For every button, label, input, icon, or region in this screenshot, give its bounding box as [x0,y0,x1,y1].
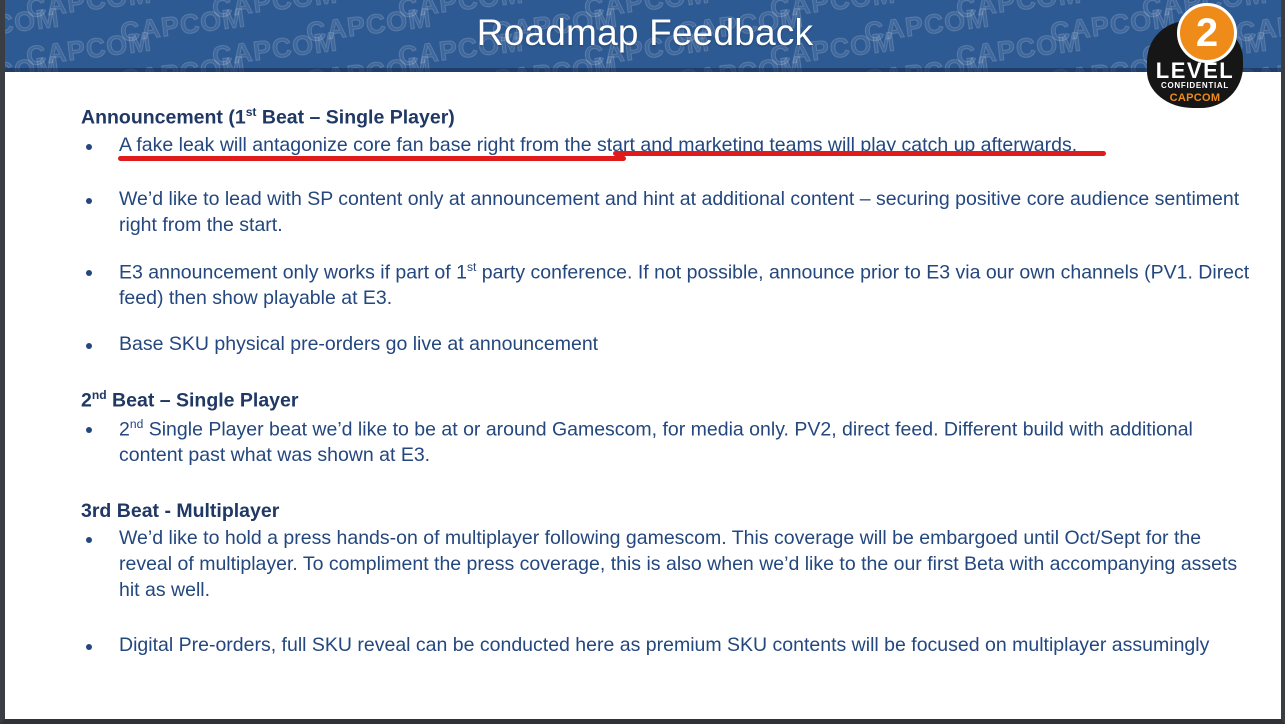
section-second-beat: 2nd Beat – Single Player 2nd Single Play… [81,387,1251,469]
bullet-text: We’d like to hold a press hands-on of mu… [119,527,1237,601]
spacer [81,178,1251,187]
bullet-text: We’d like to lead with SP content only a… [119,188,1239,236]
spacer [81,378,1251,387]
section-announcement: Announcement (1st Beat – Single Player) … [81,104,1251,358]
section-heading-announcement: Announcement (1st Beat – Single Player) [81,104,1251,131]
presentation-slide: CAPCOMCAPCOMCAPCOMCAPCOMCAPCOMCAPCOMCAPC… [0,0,1285,724]
heading-ordinal-suffix: st [246,105,257,119]
list-item: Digital Pre-orders, full SKU reveal can … [81,633,1251,659]
heading-text-pre: Announcement (1 [81,107,246,129]
heading-text-post: Beat – Single Player [107,389,299,411]
bullet-list-announcement: A fake leak will antagonize core fan bas… [81,133,1251,358]
section-heading-second-beat: 2nd Beat – Single Player [81,387,1251,414]
bullet-text: A fake leak will antagonize core fan bas… [119,134,1077,156]
list-item: We’d like to hold a press hands-on of mu… [81,526,1251,604]
page-title: Roadmap Feedback [0,0,1285,68]
bullet-text-pre: E3 announcement only works if part of 1 [119,261,467,283]
section-third-beat: 3rd Beat - Multiplayer We’d like to hold… [81,498,1251,659]
heading-text-post: Beat – Single Player) [256,107,454,129]
list-item: E3 announcement only works if part of 1s… [81,259,1251,312]
slide-body: Announcement (1st Beat – Single Player) … [5,72,1281,679]
section-heading-third-beat: 3rd Beat - Multiplayer [81,498,1251,524]
bullet-text-pre: 2 [119,418,130,440]
badge-level-number: 2 [1177,3,1237,63]
bullet-text: Digital Pre-orders, full SKU reveal can … [119,634,1209,656]
heading-text-pre: 2 [81,389,92,411]
spacer [81,489,1251,498]
bullet-ordinal-suffix: nd [130,417,143,431]
slide-header-banner: CAPCOMCAPCOMCAPCOMCAPCOMCAPCOMCAPCOMCAPC… [0,0,1285,72]
list-item: We’d like to lead with SP content only a… [81,187,1251,239]
heading-ordinal-suffix: nd [92,388,107,402]
bullet-list-second-beat: 2nd Single Player beat we’d like to be a… [81,416,1251,469]
list-item: 2nd Single Player beat we’d like to be a… [81,416,1251,469]
bullet-text-post: Single Player beat we’d like to be at or… [119,418,1193,466]
list-item: Base SKU physical pre-orders go live at … [81,332,1251,358]
bullet-ordinal-suffix: st [467,260,476,274]
bullet-list-third-beat: We’d like to hold a press hands-on of mu… [81,526,1251,659]
spacer [81,624,1251,633]
list-item: A fake leak will antagonize core fan bas… [81,133,1251,159]
bullet-text: Base SKU physical pre-orders go live at … [119,333,598,355]
